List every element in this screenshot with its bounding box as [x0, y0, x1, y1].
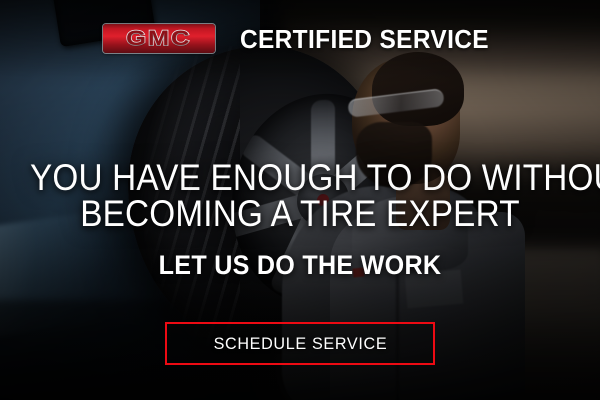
gmc-logo-wordmark: GMC [126, 28, 191, 49]
banner-content: GMC CERTIFIED SERVICE YOU HAVE ENOUGH TO… [0, 0, 600, 400]
brand-lockup: GMC CERTIFIED SERVICE [0, 24, 600, 53]
gmc-logo: GMC [103, 24, 215, 53]
headline-line-1: YOU HAVE ENOUGH TO DO WITHOUT [30, 160, 570, 196]
schedule-service-button[interactable]: SCHEDULE SERVICE [165, 322, 435, 365]
headline-line-2: BECOMING A TIRE EXPERT [30, 196, 570, 232]
subheadline: LET US DO THE WORK [21, 252, 579, 279]
schedule-service-button-label: SCHEDULE SERVICE [213, 335, 387, 352]
certified-service-tagline: CERTIFIED SERVICE [240, 26, 489, 52]
headline: YOU HAVE ENOUGH TO DO WITHOUT BECOMING A… [30, 160, 570, 232]
gmc-certified-service-banner: GMC CERTIFIED SERVICE YOU HAVE ENOUGH TO… [0, 0, 600, 400]
